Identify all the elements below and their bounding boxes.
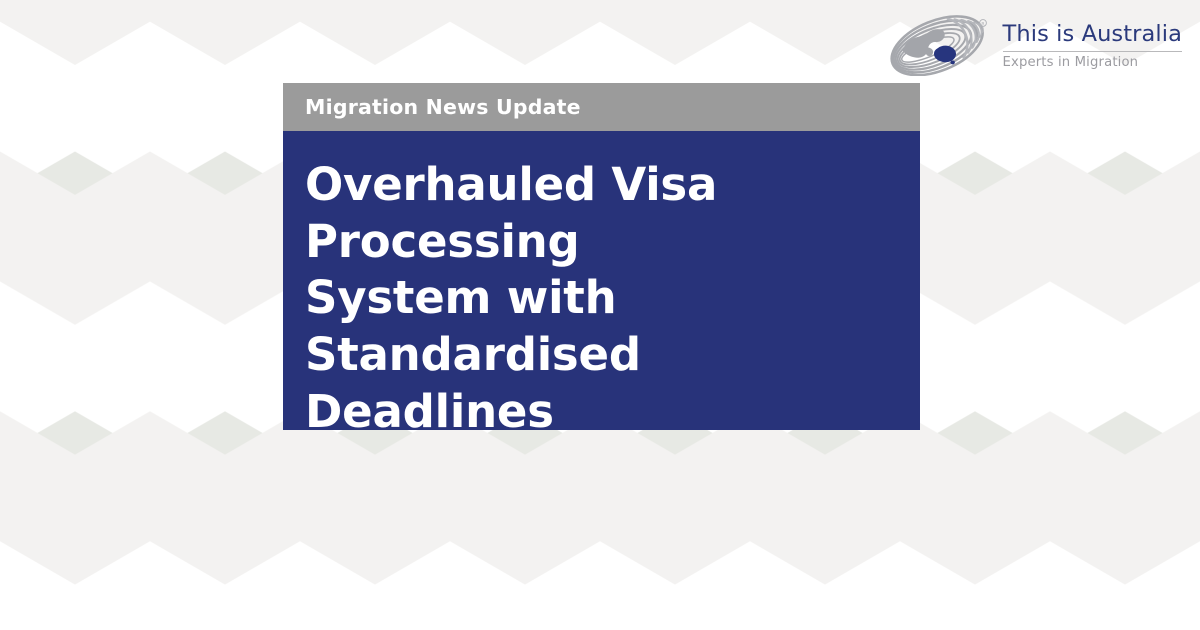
brand-logo[interactable]: R This is Australia Experts in Migration: [885, 14, 1182, 76]
svg-text:R: R: [981, 22, 985, 28]
page-title: Overhauled Visa Processing System with S…: [305, 157, 775, 440]
eyebrow-bar: Migration News Update: [283, 83, 920, 131]
logo-tagline: Experts in Migration: [1003, 55, 1139, 70]
eyebrow-label: Migration News Update: [305, 97, 581, 118]
registered-trademark-icon: R: [979, 20, 986, 28]
logo-company-name: This is Australia: [1003, 22, 1182, 47]
globe-australia-logo-icon: R: [885, 14, 993, 76]
logo-wordmark: This is Australia Experts in Migration: [1003, 20, 1182, 69]
headline-card: Migration News Update Overhauled Visa Pr…: [283, 83, 920, 430]
logo-divider-rule: [1003, 51, 1182, 52]
title-panel: Overhauled Visa Processing System with S…: [283, 131, 920, 430]
news-banner-canvas: R This is Australia Experts in Migration…: [0, 0, 1200, 630]
